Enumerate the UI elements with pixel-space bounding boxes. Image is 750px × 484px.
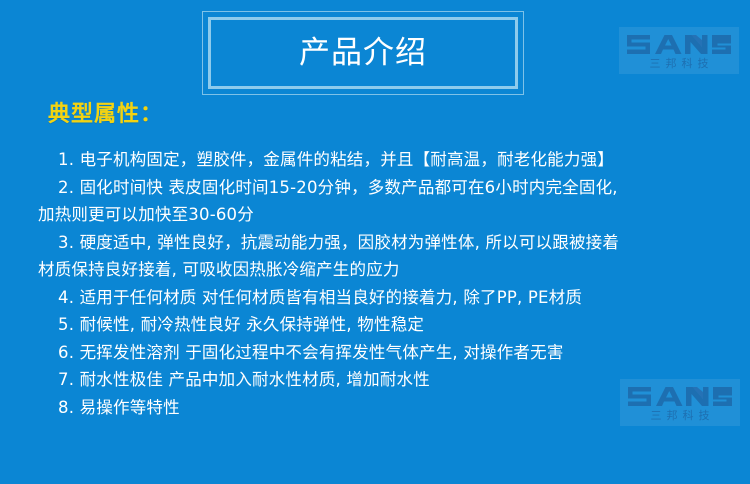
feature-line: 5. 耐候性, 耐冷热性良好 永久保持弹性, 物性稳定 bbox=[38, 311, 728, 339]
section-heading: 典型属性： bbox=[48, 104, 163, 126]
feature-line-continuation: 加热则更可以加快至30-60分 bbox=[38, 201, 728, 229]
feature-line: 1. 电子机构固定，塑胶件，金属件的粘结，并且【耐高温，耐老化能力强】 bbox=[38, 146, 728, 174]
feature-line: 4. 适用于任何材质 对任何材质皆有相当良好的接着力, 除了PP, PE材质 bbox=[38, 284, 728, 312]
feature-line: 3. 硬度适中, 弹性良好，抗震动能力强，因胶材为弹性体, 所以可以跟被接着 bbox=[38, 229, 728, 257]
feature-line-continuation: 材质保持良好接着, 可吸收因热胀冷缩产生的应力 bbox=[38, 256, 728, 284]
feature-line: 6. 无挥发性溶剂 于固化过程中不会有挥发性气体产生, 对操作者无害 bbox=[38, 339, 728, 367]
title-frame-outer: 产品介绍 bbox=[202, 11, 524, 95]
sanb-logo-icon bbox=[626, 34, 732, 55]
watermark-subtitle: 三邦科技 bbox=[645, 58, 714, 69]
watermark-logo-top: 三邦科技 bbox=[619, 27, 739, 74]
title-frame-inner: 产品介绍 bbox=[208, 17, 518, 89]
product-introduction-page: 产品介绍 三邦科技 典型属性： 1. 电子机构固定，塑胶件，金属件的粘结，并且【… bbox=[0, 0, 750, 484]
sanb-logo-icon bbox=[627, 386, 733, 407]
feature-line: 2. 固化时间快 表皮固化时间15-20分钟，多数产品都可在6小时内完全固化, bbox=[38, 174, 728, 202]
watermark-subtitle: 三邦科技 bbox=[646, 410, 715, 421]
watermark-logo-bottom: 三邦科技 bbox=[620, 379, 740, 426]
page-title: 产品介绍 bbox=[299, 38, 427, 69]
